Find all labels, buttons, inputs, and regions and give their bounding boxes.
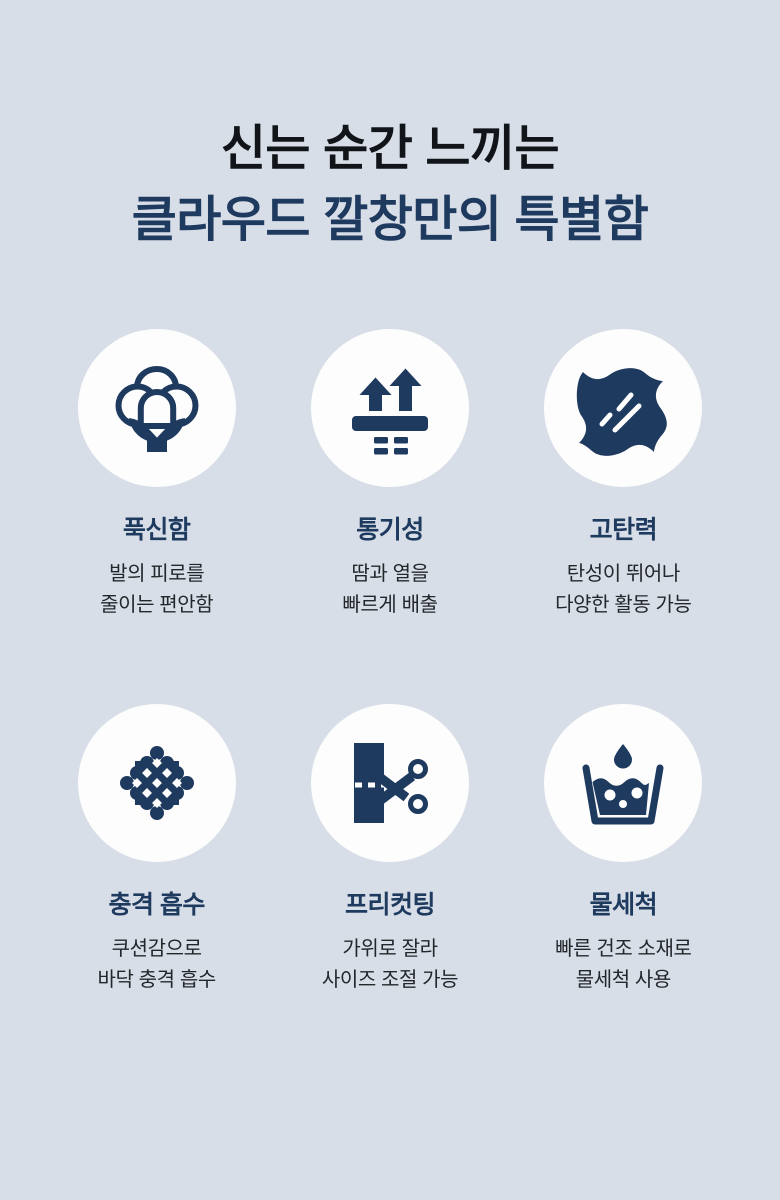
- feature-desc-line-1: 탄성이 뛰어나: [555, 559, 691, 589]
- feature-description: 탄성이 뛰어나 다양한 활동 가능: [555, 559, 691, 620]
- feature-title: 물세척: [590, 890, 658, 920]
- icon-circle: [78, 329, 236, 487]
- elastic-fabric-icon: [575, 360, 671, 456]
- feature-item-breathability: 통기성 땀과 열을 빠르게 배출: [273, 329, 506, 620]
- feature-item-shock-absorption: 충격 흡수 쿠션감으로 바닥 충격 흡수: [40, 704, 273, 995]
- feature-grid: 푹신함 발의 피로를 줄이는 편안함: [40, 329, 740, 995]
- feature-desc-line-1: 땀과 열을: [342, 559, 437, 589]
- breathability-arrows-icon: [344, 360, 436, 456]
- feature-title: 고탄력: [590, 515, 658, 545]
- feature-desc-line-2: 다양한 활동 가능: [555, 590, 691, 620]
- headline-line-1: 신는 순간 느끼는: [132, 118, 649, 181]
- feature-item-precutting: 프리컷팅 가위로 잘라 사이즈 조절 가능: [273, 704, 506, 995]
- feature-desc-line-2: 줄이는 편안함: [100, 590, 213, 620]
- headline-line-2: 클라우드 깔창만의 특별함: [132, 189, 649, 252]
- feature-description: 쿠션감으로 바닥 충격 흡수: [98, 934, 216, 995]
- honeycomb-cushion-icon: [109, 735, 205, 831]
- feature-description: 가위로 잘라 사이즈 조절 가능: [322, 934, 458, 995]
- feature-title: 프리컷팅: [345, 890, 435, 920]
- feature-desc-line-2: 사이즈 조절 가능: [322, 965, 458, 995]
- icon-circle: [544, 704, 702, 862]
- icon-circle: [311, 704, 469, 862]
- feature-title: 푹신함: [123, 515, 191, 545]
- icon-circle: [311, 329, 469, 487]
- feature-desc-line-1: 가위로 잘라: [322, 934, 458, 964]
- feature-description: 발의 피로를 줄이는 편안함: [100, 559, 213, 620]
- feature-desc-line-1: 빠른 건조 소재로: [555, 934, 691, 964]
- feature-desc-line-1: 발의 피로를: [100, 559, 213, 589]
- feature-description: 빠른 건조 소재로 물세척 사용: [555, 934, 691, 995]
- feature-item-elasticity: 고탄력 탄성이 뛰어나 다양한 활동 가능: [507, 329, 740, 620]
- feature-desc-line-2: 빠르게 배출: [342, 590, 437, 620]
- feature-desc-line-1: 쿠션감으로: [98, 934, 216, 964]
- cotton-boll-icon: [111, 360, 203, 456]
- feature-desc-line-2: 바닥 충격 흡수: [98, 965, 216, 995]
- feature-description: 땀과 열을 빠르게 배출: [342, 559, 437, 620]
- scissors-cut-icon: [342, 735, 438, 831]
- icon-circle: [78, 704, 236, 862]
- feature-title: 통기성: [356, 515, 424, 545]
- feature-item-washable: 물세척 빠른 건조 소재로 물세척 사용: [507, 704, 740, 995]
- feature-desc-line-2: 물세척 사용: [555, 965, 691, 995]
- wash-basin-icon: [575, 738, 671, 828]
- feature-item-cushioning: 푹신함 발의 피로를 줄이는 편안함: [40, 329, 273, 620]
- feature-infographic-page: 신는 순간 느끼는 클라우드 깔창만의 특별함: [0, 0, 780, 1200]
- feature-title: 충격 흡수: [108, 890, 204, 920]
- page-headline: 신는 순간 느끼는 클라우드 깔창만의 특별함: [132, 118, 649, 251]
- icon-circle: [544, 329, 702, 487]
